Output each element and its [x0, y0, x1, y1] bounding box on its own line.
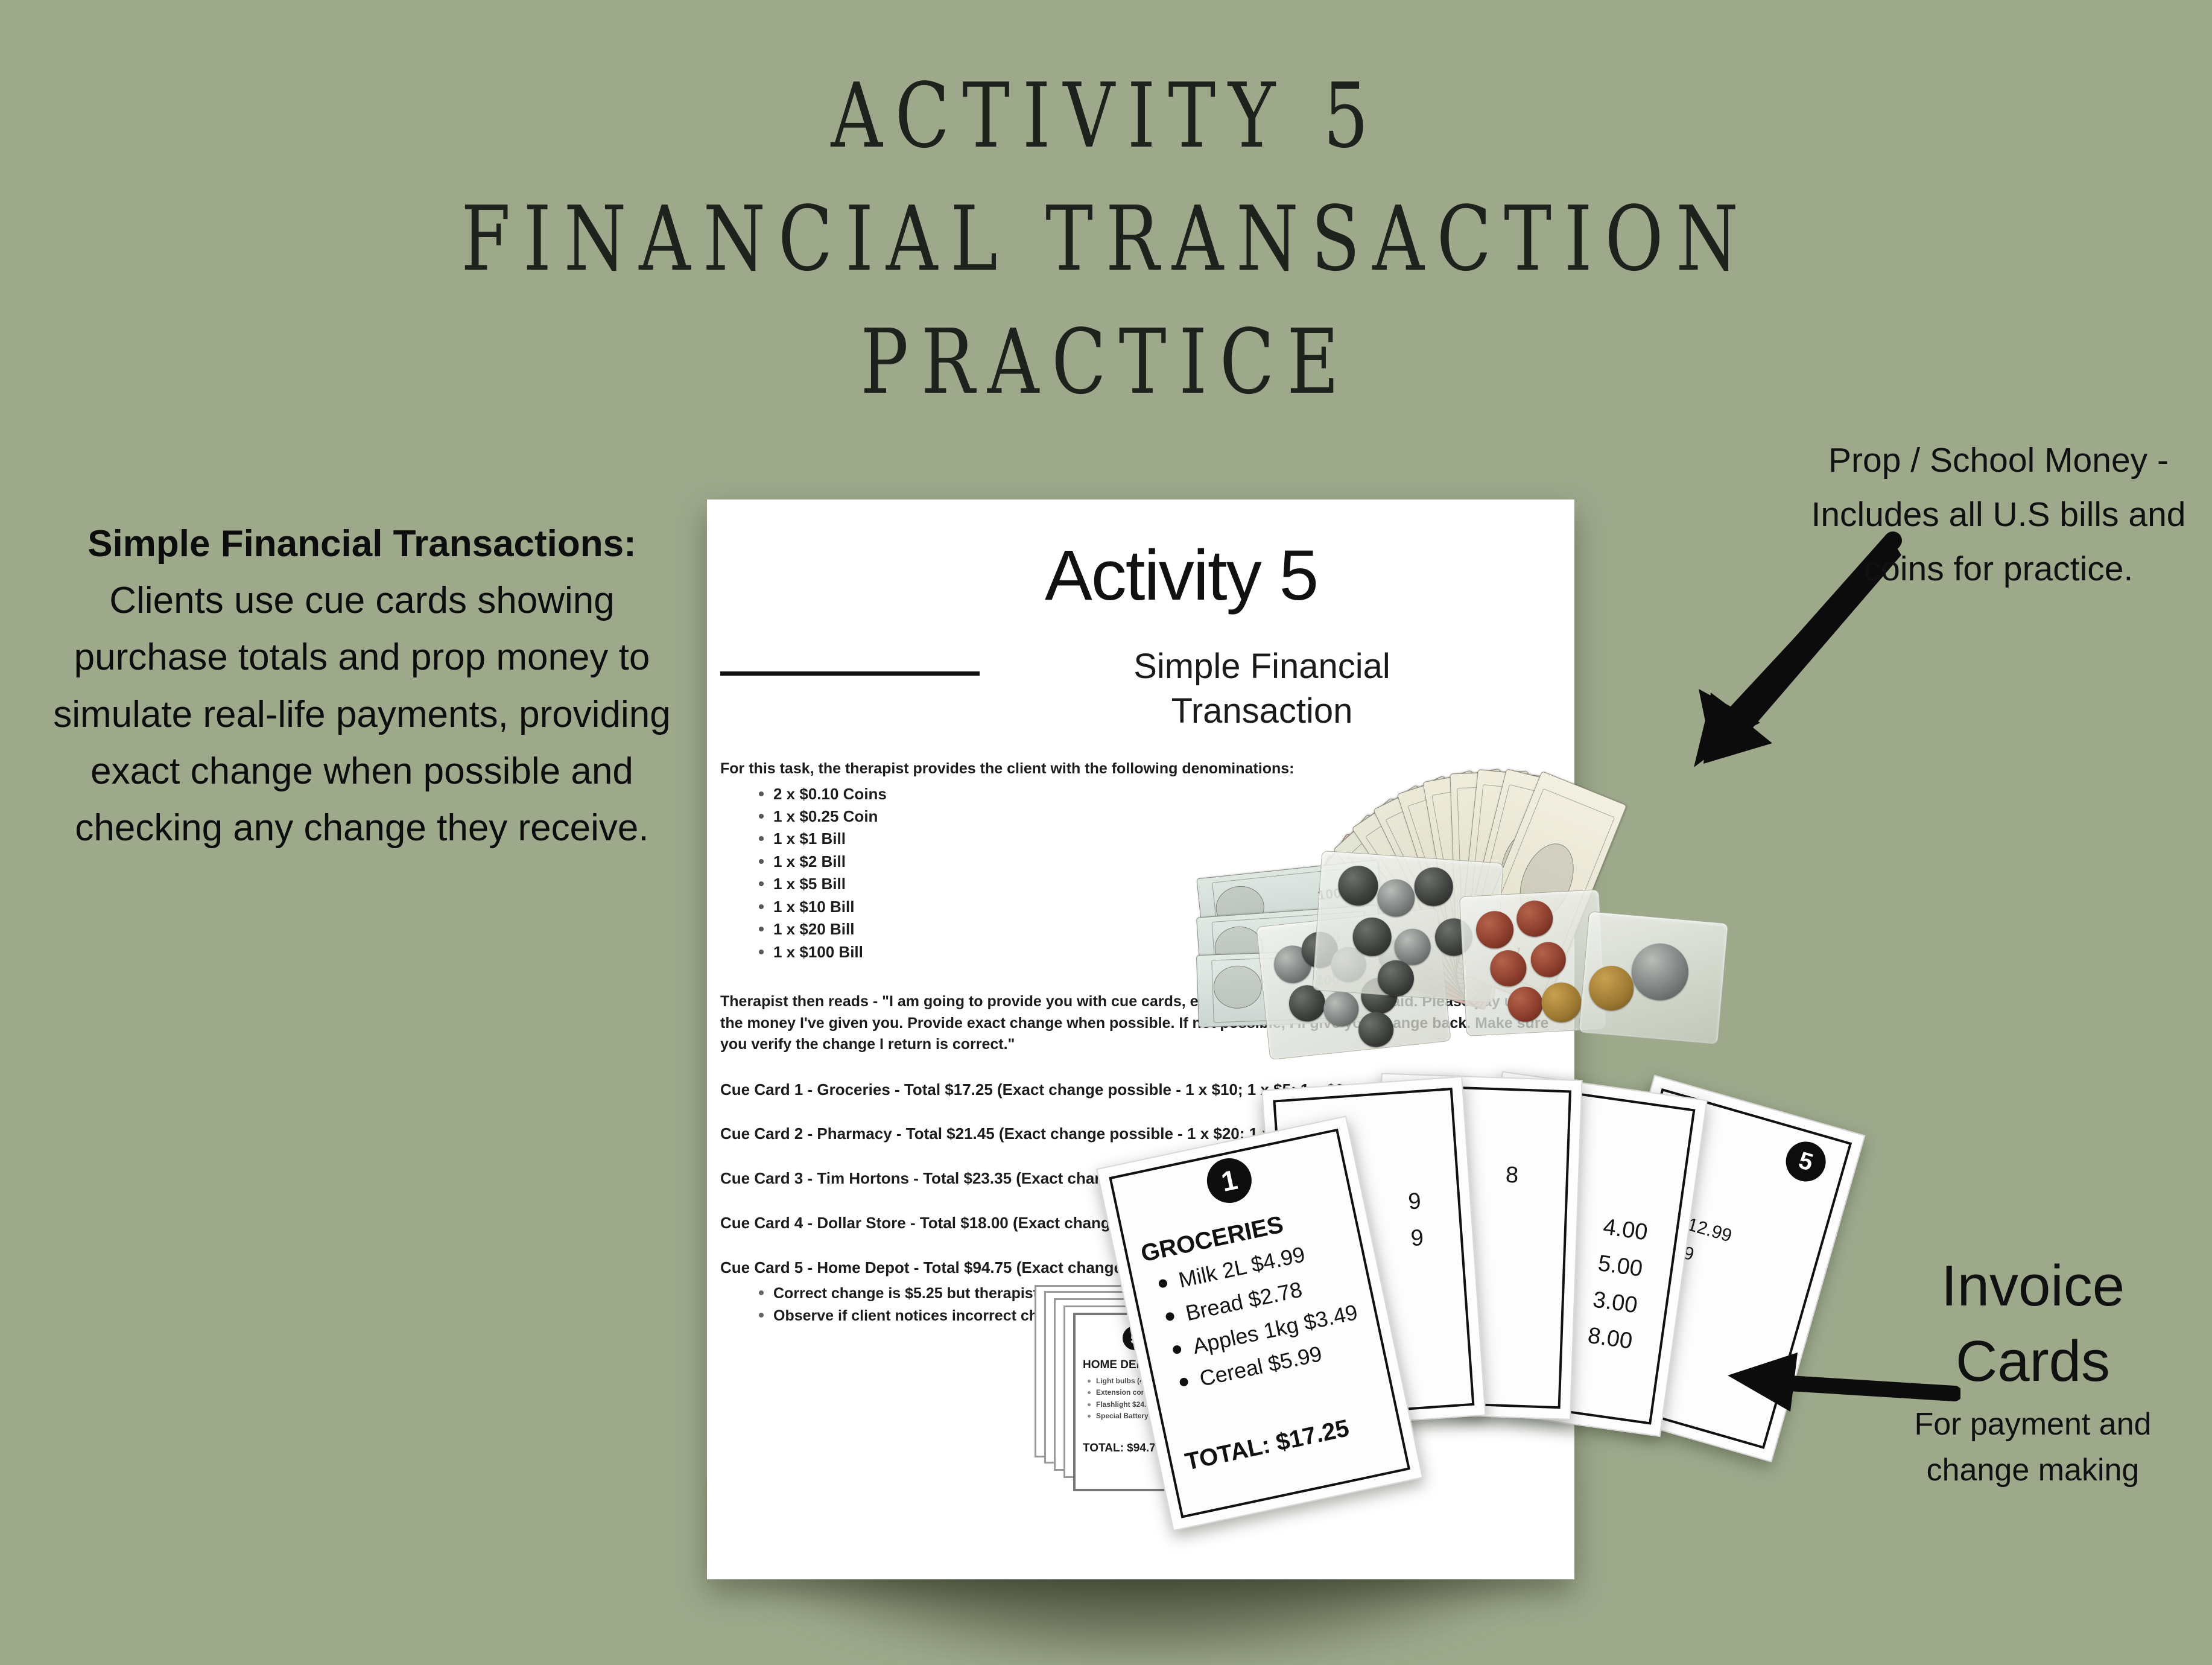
list-item: 9: [1407, 1183, 1422, 1220]
list-item: 8: [1505, 1157, 1519, 1194]
mini-card-total: TOTAL: $94.75: [1083, 1442, 1162, 1455]
list-item: 8.00: [1585, 1318, 1635, 1360]
invoice-annotation-line-2: Cards: [1858, 1324, 2208, 1400]
list-item: 5.00: [1596, 1245, 1645, 1287]
invoice-cards-annotation: Invoice Cards For payment and change mak…: [1858, 1249, 2208, 1491]
document-rule: [720, 671, 980, 676]
money-annotation: Prop / School Money - Includes all U.S b…: [1790, 433, 2207, 596]
invoice-annotation-line-1: Invoice: [1858, 1249, 2208, 1324]
left-description-lead: Simple Financial Transactions:: [87, 523, 636, 565]
left-description-body: Clients use cue cards showing purchase t…: [53, 580, 670, 849]
slide-canvas: ACTIVITY 5 FINANCIAL TRANSACTION PRACTIC…: [0, 0, 2212, 1659]
page-title: ACTIVITY 5 FINANCIAL TRANSACTION PRACTIC…: [0, 54, 2212, 424]
title-line-2: FINANCIAL TRANSACTION: [221, 177, 1991, 300]
title-line-1: ACTIVITY 5: [221, 54, 1991, 177]
invoice-card-3-values: 8: [1505, 1157, 1519, 1194]
invoice-annotation-sub-2: change making: [1858, 1449, 2208, 1491]
invoice-annotation-sub-1: For payment and: [1858, 1403, 2208, 1445]
left-description: Simple Financial Transactions: Clients u…: [33, 516, 691, 857]
title-line-3: PRACTICE: [221, 300, 1991, 423]
list-item: 4.00: [1601, 1209, 1650, 1251]
list-item: 3.00: [1591, 1281, 1640, 1324]
prop-money-photo: 50 50 50 20 20 10 10 10 5 2 2 1 1 100 10…: [1197, 519, 1843, 1050]
invoice-card-fan: 5 OT (4pk) $12.99 d $19.99 95 $36.82 4.0…: [1170, 1068, 1979, 1526]
coin-bag-dollars: [1579, 911, 1729, 1044]
list-item: 9: [1410, 1220, 1425, 1257]
